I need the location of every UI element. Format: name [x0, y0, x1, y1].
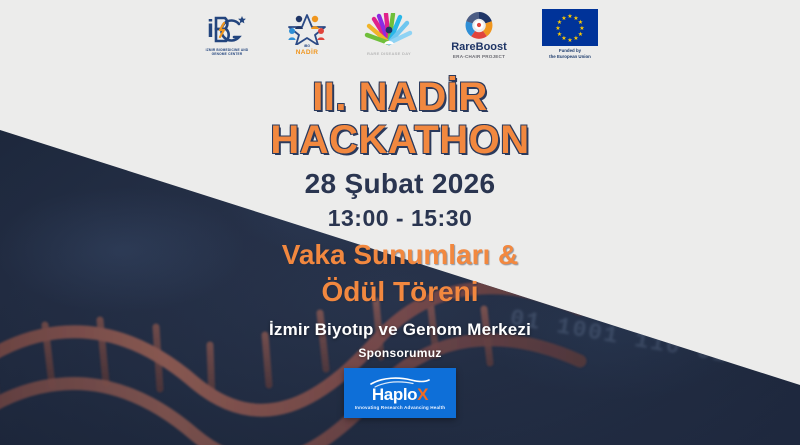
haplox-name-main: Haplo — [372, 385, 417, 404]
haplox-sponsor-logo: HaploX Innovating Research Advancing Hea… — [344, 368, 456, 418]
poster-title: II. NADİR HACKATHON — [0, 76, 800, 162]
subtitle-line-1: Vaka Sunumları & — [0, 237, 800, 274]
haplox-wordmark: HaploX — [372, 386, 428, 403]
event-date: 28 Şubat 2026 — [0, 168, 800, 200]
event-time: 13:00 - 15:30 — [0, 205, 800, 232]
haplox-tagline: Innovating Research Advancing Health — [355, 405, 446, 410]
sponsor-label: Sponsorumuz — [0, 346, 800, 360]
title-line-2: HACKATHON — [0, 119, 800, 162]
title-line-1: II. NADİR — [0, 76, 800, 119]
event-poster: 01 1001 110 01 10291 100 i IZMIR BIOMEDI… — [0, 0, 800, 445]
subtitle-line-2: Ödül Töreni — [0, 274, 800, 311]
event-subtitle: Vaka Sunumları & Ödül Töreni — [0, 237, 800, 311]
event-venue: İzmir Biyotıp ve Genom Merkezi — [0, 320, 800, 340]
poster-content: II. NADİR HACKATHON 28 Şubat 2026 13:00 … — [0, 0, 800, 445]
haplox-name-accent: X — [417, 385, 428, 404]
